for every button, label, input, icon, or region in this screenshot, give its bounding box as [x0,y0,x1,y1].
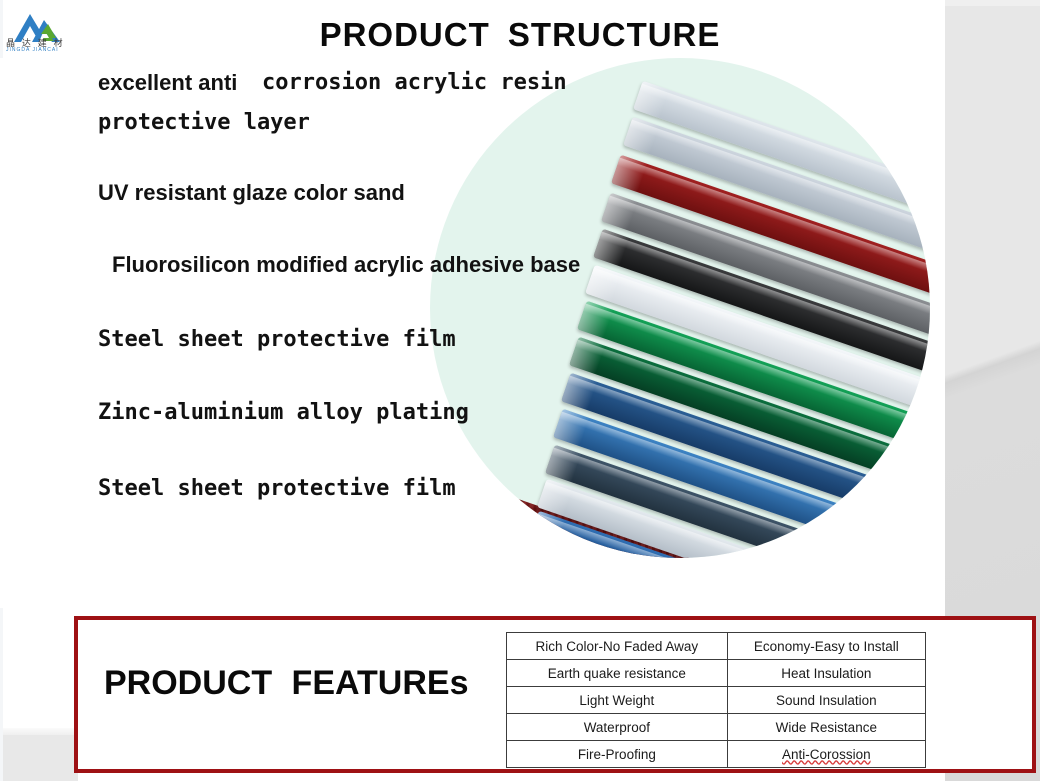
structure-label-protective-film-bottom: Steel sheet protective film [98,476,456,501]
feature-cell-left: Fire-Proofing [507,741,728,768]
table-row: Earth quake resistanceHeat Insulation [507,660,926,687]
feature-cell-right: Anti-Corossion [727,741,925,768]
structure-label-glaze-color-sand: UV resistant glaze color sand [98,180,405,206]
page-title: PRODUCT STRUCTURE [0,16,1040,54]
structure-label-line1-mono: corrosion acrylic resin [262,70,567,95]
features-table-body: Rich Color-No Faded AwayEconomy-Easy to … [507,633,926,768]
background-right-top-notch [945,0,1040,6]
feature-cell-right: Heat Insulation [727,660,925,687]
feature-cell-left: Earth quake resistance [507,660,728,687]
structure-label-protective-film-top: Steel sheet protective film [98,327,456,352]
background-left-band [0,735,78,781]
structure-label-line1-sans: excellent anti [98,70,237,96]
table-row: Fire-ProofingAnti-Corossion [507,741,926,768]
features-title: PRODUCT FEATUREs [104,664,469,703]
feature-cell-right: Wide Resistance [727,714,925,741]
feature-cell-right: Sound Insulation [727,687,925,714]
feature-cell-right: Economy-Easy to Install [727,633,925,660]
feature-cell-left: Waterproof [507,714,728,741]
structure-label-line1b-mono: protective layer [98,110,310,135]
table-row: Light WeightSound Insulation [507,687,926,714]
spellcheck-flagged-text: Anti-Corossion [782,747,871,762]
table-row: WaterproofWide Resistance [507,714,926,741]
product-features-box: PRODUCT FEATUREs Rich Color-No Faded Awa… [74,616,1036,773]
feature-cell-left: Light Weight [507,687,728,714]
structure-label-zinc-aluminium-plating: Zinc-aluminium alloy plating [98,400,469,425]
slide-canvas: 晶 达 建 材 JINGDA JIANCAI PRODUCT STRUCTURE… [0,0,1040,781]
features-table: Rich Color-No Faded AwayEconomy-Easy to … [506,632,926,768]
structure-label-adhesive-base: Fluorosilicon modified acrylic adhesive … [112,252,580,278]
product-photo [430,58,930,558]
feature-cell-left: Rich Color-No Faded Away [507,633,728,660]
table-row: Rich Color-No Faded AwayEconomy-Easy to … [507,633,926,660]
